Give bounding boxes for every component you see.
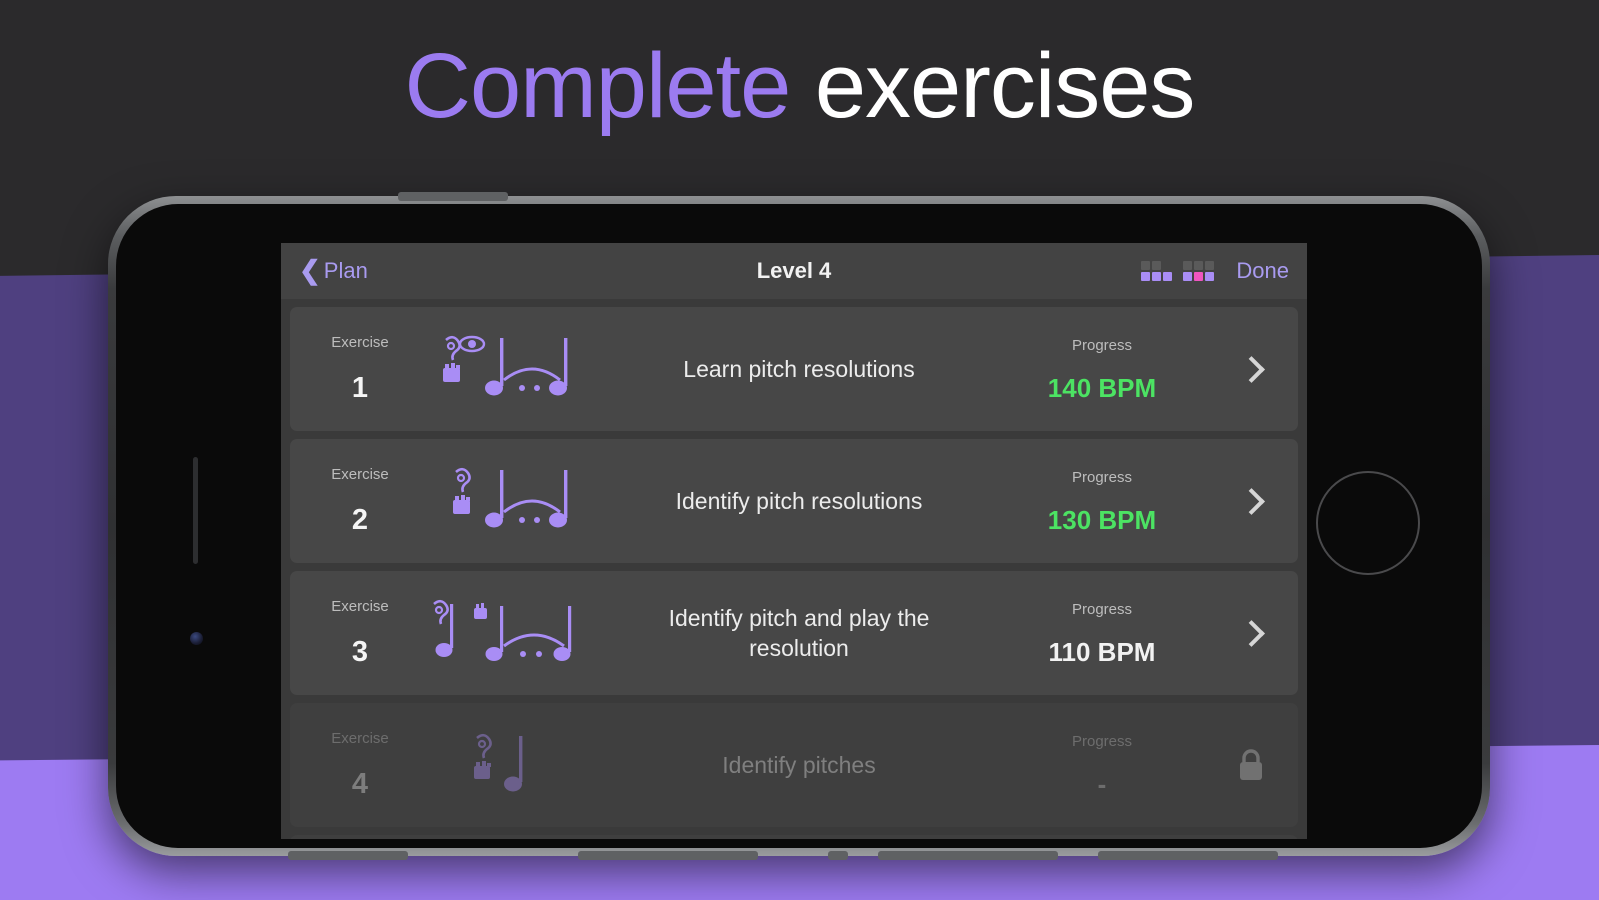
meter-cell-top bbox=[1141, 261, 1150, 270]
meter-cell-top bbox=[1183, 261, 1192, 270]
meter-group-1 bbox=[1141, 261, 1172, 281]
speaker-grille-left bbox=[288, 851, 408, 860]
meter-column bbox=[1163, 261, 1172, 281]
speaker-slot-icon bbox=[193, 457, 198, 564]
exercise-title: Identify pitch resolutions bbox=[612, 486, 986, 516]
chevron-left-icon: ❮ bbox=[299, 257, 321, 283]
speaker-grille-mid-right bbox=[878, 851, 1058, 860]
row-accessory[interactable] bbox=[1218, 624, 1284, 643]
app-screen: ❮ Plan Level 4 bbox=[281, 243, 1307, 839]
power-button[interactable] bbox=[398, 192, 508, 201]
exercise-icon-cell bbox=[412, 728, 612, 802]
ear-eye-notes-slur-icon bbox=[432, 332, 592, 406]
exercise-title: Learn pitch resolutions bbox=[612, 354, 986, 384]
phone-bezel: ❮ Plan Level 4 bbox=[116, 204, 1482, 848]
progress-cell: Progress 130 BPM bbox=[986, 470, 1218, 533]
exercise-caption: Exercise bbox=[308, 335, 412, 350]
exercise-caption: Exercise bbox=[308, 599, 412, 614]
meter-column bbox=[1152, 261, 1161, 281]
progress-caption: Progress bbox=[986, 734, 1218, 749]
row-accessory[interactable] bbox=[1218, 492, 1284, 511]
progress-value: - bbox=[986, 771, 1218, 797]
progress-value: 110 BPM bbox=[986, 639, 1218, 665]
progress-caption: Progress bbox=[986, 338, 1218, 353]
meter-cell-bottom bbox=[1194, 272, 1203, 281]
back-button[interactable]: ❮ Plan bbox=[299, 258, 368, 284]
level-progress-meter bbox=[1141, 261, 1214, 281]
exercise-number: 1 bbox=[308, 374, 412, 403]
meter-cell-bottom bbox=[1141, 272, 1150, 281]
table-row[interactable]: Exercise 2 bbox=[290, 439, 1298, 563]
meter-column bbox=[1205, 261, 1214, 281]
done-button[interactable]: Done bbox=[1236, 258, 1289, 284]
progress-cell: Progress - bbox=[986, 734, 1218, 797]
exercise-title: Identify pitches bbox=[612, 750, 986, 780]
back-button-label: Plan bbox=[324, 258, 368, 284]
meter-cell-top bbox=[1205, 261, 1214, 270]
lock-icon bbox=[1237, 748, 1265, 782]
meter-cell-top bbox=[1163, 261, 1172, 270]
table-row[interactable]: Exercise 3 bbox=[290, 571, 1298, 695]
meter-cell-top bbox=[1194, 261, 1203, 270]
progress-caption: Progress bbox=[986, 470, 1218, 485]
page-title: Complete exercises bbox=[0, 38, 1599, 135]
headline-plain-word: exercises bbox=[790, 35, 1194, 137]
exercise-number: 3 bbox=[308, 638, 412, 667]
exercise-caption: Exercise bbox=[308, 731, 412, 746]
exercise-number-cell: Exercise 1 bbox=[308, 335, 412, 403]
exercise-number-cell: Exercise 4 bbox=[308, 731, 412, 799]
meter-column bbox=[1141, 261, 1150, 281]
headline-accent-word: Complete bbox=[405, 35, 791, 137]
chevron-right-icon bbox=[1238, 620, 1265, 647]
meter-column bbox=[1183, 261, 1192, 281]
exercise-number-cell: Exercise 2 bbox=[308, 467, 412, 535]
screenshot-stage: Complete exercises ❮ Plan Level 4 bbox=[0, 0, 1599, 900]
ear-note-mic-notes-slur-icon bbox=[424, 594, 600, 672]
progress-cell: Progress 140 BPM bbox=[986, 338, 1218, 401]
exercise-number: 4 bbox=[308, 770, 412, 799]
exercise-icon-cell bbox=[412, 464, 612, 538]
navbar-right-group: Done bbox=[1141, 258, 1289, 284]
meter-group-2 bbox=[1183, 261, 1214, 281]
chevron-right-icon bbox=[1238, 356, 1265, 383]
progress-cell: Progress 110 BPM bbox=[986, 602, 1218, 665]
row-accessory bbox=[1218, 748, 1284, 782]
row-accessory[interactable] bbox=[1218, 360, 1284, 379]
exercise-icon-cell bbox=[412, 332, 612, 406]
exercise-list: Exercise 1 bbox=[281, 307, 1307, 839]
speaker-grille-mid-left bbox=[578, 851, 758, 860]
progress-caption: Progress bbox=[986, 602, 1218, 617]
exercise-number: 2 bbox=[308, 506, 412, 535]
ear-notes-slur-icon bbox=[432, 464, 592, 538]
meter-cell-bottom bbox=[1152, 272, 1161, 281]
exercise-number-cell: Exercise 3 bbox=[308, 599, 412, 667]
table-row: Exercise Progress bbox=[290, 835, 1298, 839]
exercise-caption: Exercise bbox=[308, 467, 412, 482]
progress-value: 140 BPM bbox=[986, 375, 1218, 401]
meter-column bbox=[1194, 261, 1203, 281]
progress-value: 130 BPM bbox=[986, 507, 1218, 533]
front-camera-icon bbox=[190, 632, 203, 645]
meter-cell-bottom bbox=[1205, 272, 1214, 281]
meter-cell-bottom bbox=[1183, 272, 1192, 281]
ear-single-note-icon bbox=[457, 728, 567, 802]
speaker-grille-right bbox=[1098, 851, 1278, 860]
home-button-icon[interactable] bbox=[1316, 471, 1420, 575]
meter-cell-bottom bbox=[1163, 272, 1172, 281]
exercise-title: Identify pitch and play the resolution bbox=[612, 603, 986, 664]
chevron-right-icon bbox=[1238, 488, 1265, 515]
table-row[interactable]: Exercise 1 bbox=[290, 307, 1298, 431]
meter-cell-top bbox=[1152, 261, 1161, 270]
navigation-bar: ❮ Plan Level 4 bbox=[281, 243, 1307, 299]
phone-device: ❮ Plan Level 4 bbox=[108, 196, 1490, 856]
exercise-icon-cell bbox=[412, 594, 612, 672]
lightning-port bbox=[828, 851, 848, 860]
table-row: Exercise 4 bbox=[290, 703, 1298, 827]
